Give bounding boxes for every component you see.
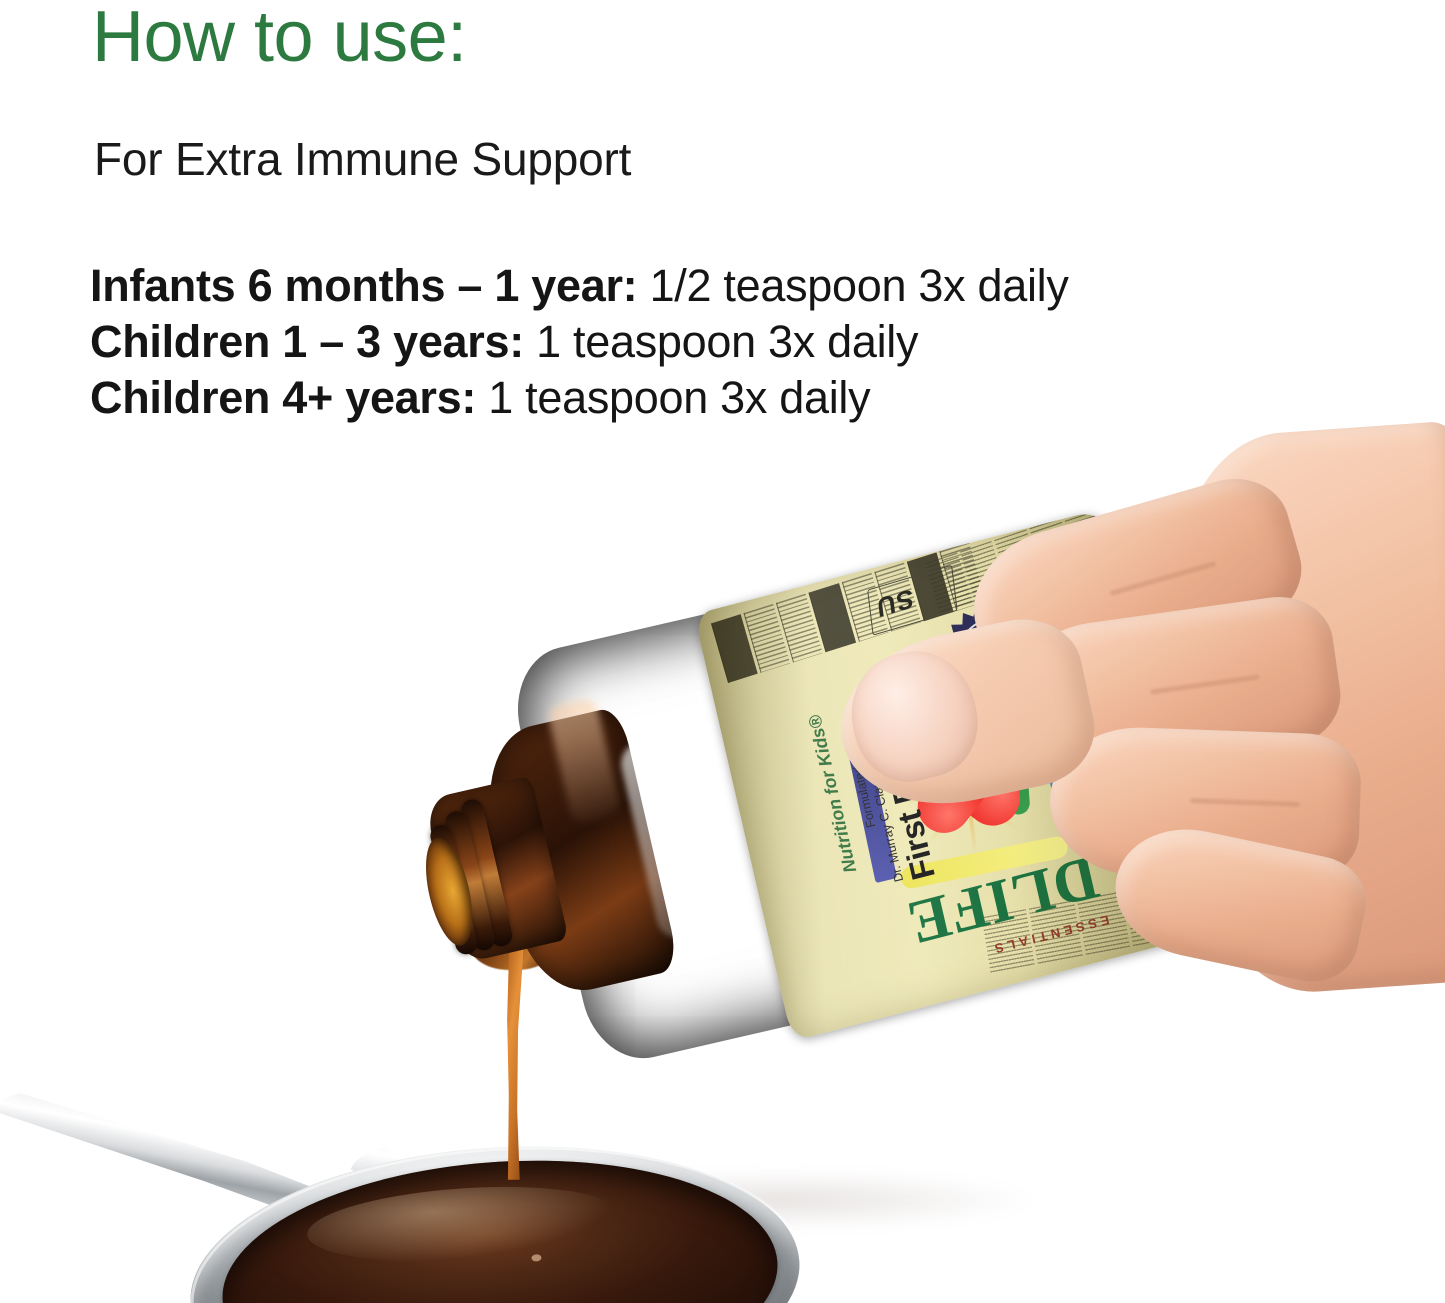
dosage-list: Infants 6 months – 1 year: 1/2 teaspoon … [90, 258, 1069, 426]
dosage-row: Infants 6 months – 1 year: 1/2 teaspoon … [90, 258, 1069, 314]
dosage-age-label: Children 4+ years: [90, 372, 476, 423]
subheading: For Extra Immune Support [94, 133, 631, 185]
dosage-amount: 1 teaspoon 3x daily [536, 316, 918, 367]
dosage-row: Children 1 – 3 years: 1 teaspoon 3x dail… [90, 314, 1069, 370]
dosage-amount: 1 teaspoon 3x daily [488, 372, 870, 423]
product-photo: SU [0, 410, 1445, 1303]
hand-holding-bottle [900, 400, 1445, 1020]
dosage-age-label: Infants 6 months – 1 year: [90, 260, 637, 311]
syrup-highlight [305, 1177, 621, 1270]
dosage-age-label: Children 1 – 3 years: [90, 316, 524, 367]
product-instruction-image: How to use: For Extra Immune Support Inf… [0, 0, 1445, 1303]
dosage-amount: 1/2 teaspoon 3x daily [650, 260, 1069, 311]
syrup-bubble [532, 1254, 542, 1262]
dosage-row: Children 4+ years: 1 teaspoon 3x daily [90, 370, 1069, 426]
syrup-shadow [280, 1298, 673, 1303]
page-title: How to use: [92, 0, 467, 76]
